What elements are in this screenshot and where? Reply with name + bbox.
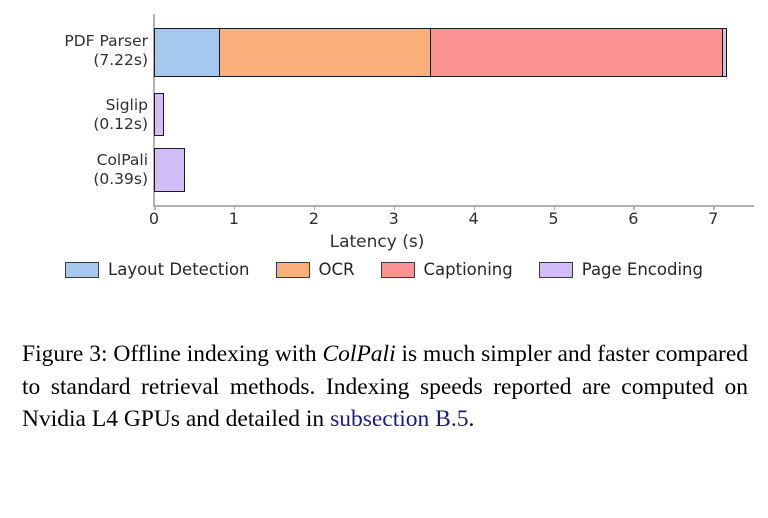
y-tick-siglip-name: Siglip [30,96,148,115]
caption-part-1: Figure 3: Offline indexing with [22,341,322,367]
legend-label: OCR [319,260,355,279]
x-axis-title: Latency (s) [0,232,768,252]
x-tick-label: 4 [469,209,479,229]
y-tick-pdf-parser: PDF Parser (7.22s) [30,32,148,70]
chart-legend: Layout DetectionOCRCaptioningPage Encodi… [0,260,768,279]
legend-swatch-icon [381,262,415,278]
y-tick-colpali-name: ColPali [30,151,148,170]
caption-italic-colpali: ColPali [322,341,395,367]
y-axis-labels: PDF Parser (7.22s) Siglip (0.12s) ColPal… [22,0,148,210]
x-axis-title-text: Latency (s) [330,232,425,252]
caption-xref-link[interactable]: subsection B.5 [330,406,468,432]
legend-swatch-icon [276,262,310,278]
bar-segment-layout-detection [154,28,220,77]
legend-item-page-encoding[interactable]: Page Encoding [539,260,703,279]
legend-label: Page Encoding [582,260,703,279]
x-tick-label: 0 [149,209,159,229]
x-tick-label: 6 [628,209,638,229]
legend-item-captioning[interactable]: Captioning [381,260,513,279]
legend-label: Captioning [424,260,513,279]
figure-chart: PDF Parser (7.22s) Siglip (0.12s) ColPal… [0,0,768,300]
x-tick-label: 5 [548,209,558,229]
bar-segment-page-encoding [722,28,727,77]
bar-segment-ocr [219,28,432,77]
y-tick-siglip-total: (0.12s) [30,115,148,134]
plot-area [154,14,754,206]
y-tick-pdf-parser-total: (7.22s) [30,51,148,70]
legend-label: Layout Detection [108,260,250,279]
legend-item-layout-detection[interactable]: Layout Detection [65,260,250,279]
bar-row [154,28,727,77]
figure-caption: Figure 3: Offline indexing with ColPali … [22,338,748,436]
bar-segment-captioning [430,28,723,77]
y-tick-siglip: Siglip (0.12s) [30,96,148,134]
legend-swatch-icon [539,262,573,278]
x-tick-label: 3 [389,209,399,229]
x-tick-label: 1 [229,209,239,229]
legend-swatch-icon [65,262,99,278]
y-tick-pdf-parser-name: PDF Parser [30,32,148,51]
bar-row [154,148,185,192]
y-tick-colpali-total: (0.39s) [30,170,148,189]
x-tick-label: 2 [309,209,319,229]
bar-row [154,93,164,136]
y-tick-colpali: ColPali (0.39s) [30,151,148,189]
bar-segment-page-encoding [154,93,164,136]
bar-segment-page-encoding [154,148,185,192]
x-tick-label: 7 [708,209,718,229]
legend-item-ocr[interactable]: OCR [276,260,355,279]
caption-part-3: . [468,406,474,432]
